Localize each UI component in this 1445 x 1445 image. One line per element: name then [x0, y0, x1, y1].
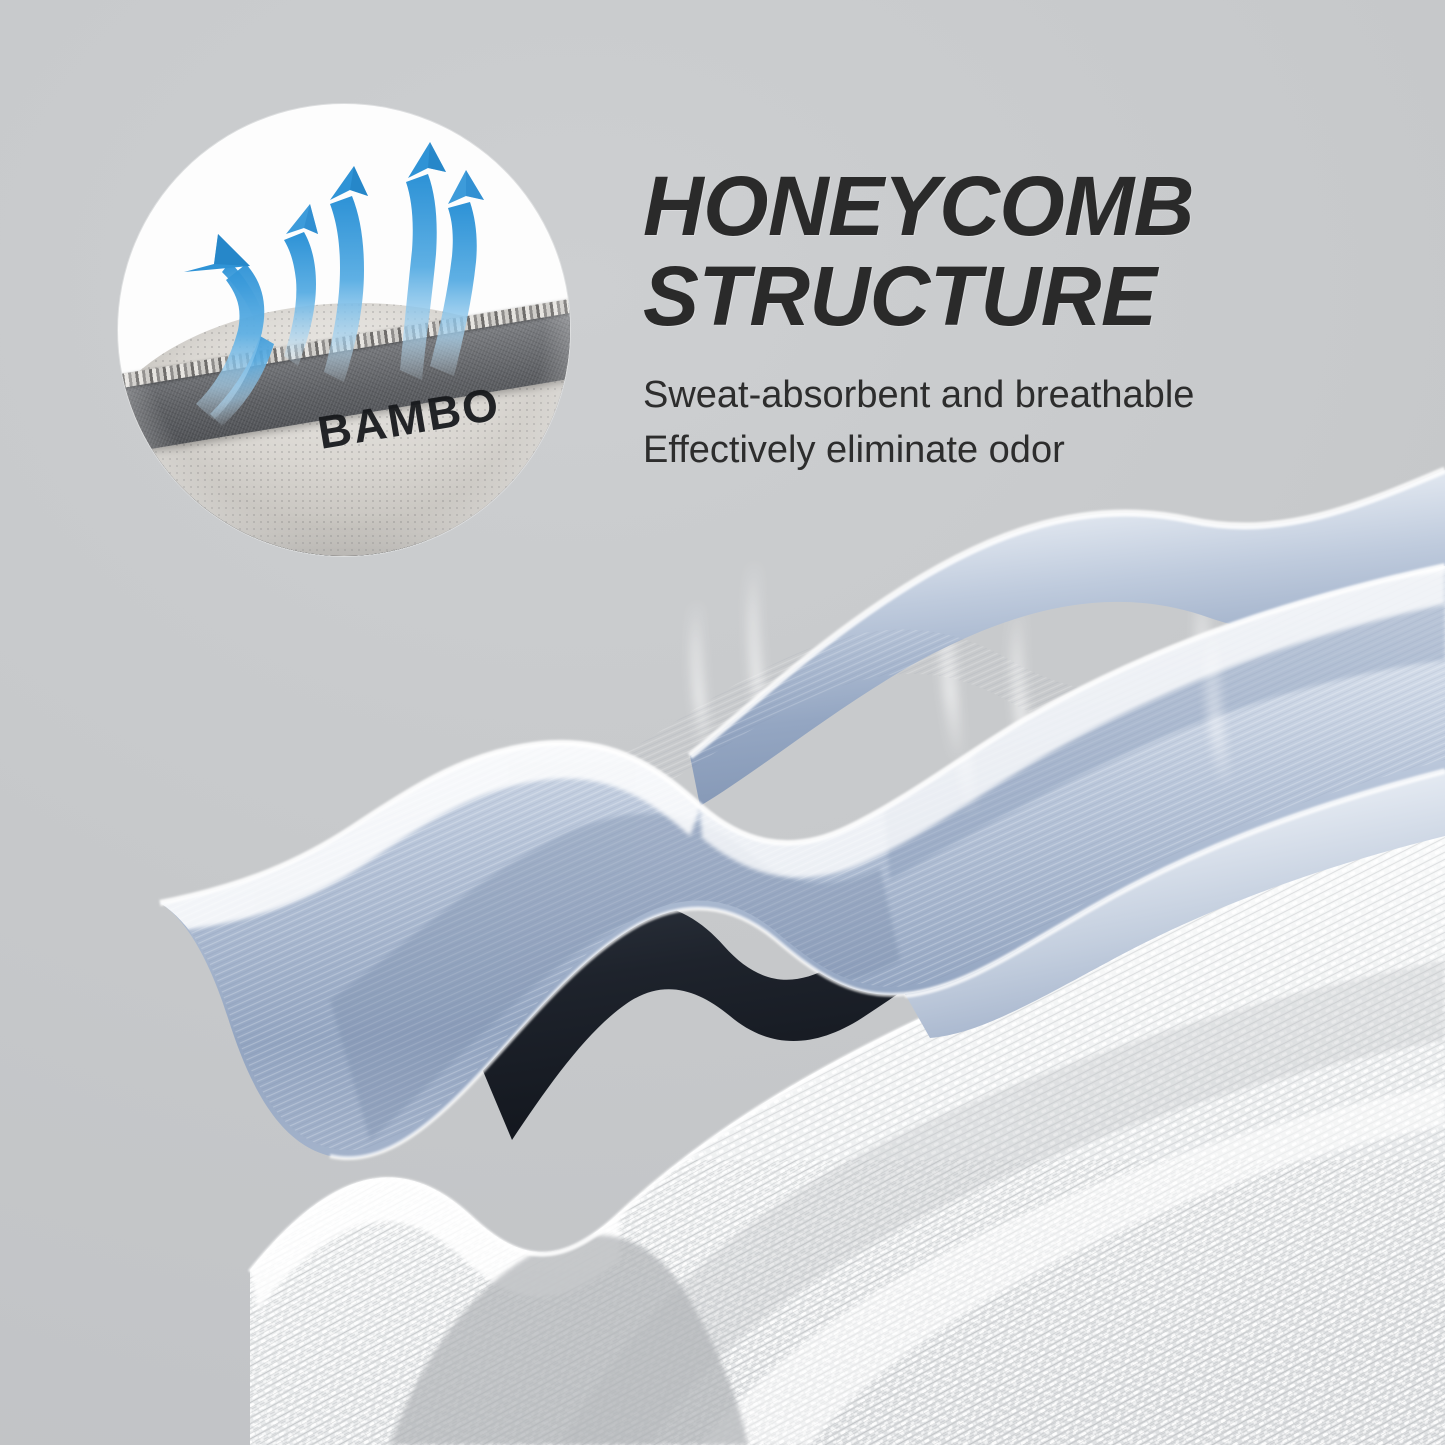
page-title-line-1: HONEYCOMB: [643, 162, 1363, 252]
airflow-arrows-group: [118, 104, 570, 556]
airflow-arrow-5: [430, 170, 484, 376]
airflow-arrow-2: [284, 204, 318, 366]
product-detail-circle-inset: BAMBO: [118, 104, 570, 556]
subtitle-line-2: Effectively eliminate odor: [643, 423, 1363, 478]
subtitle-line-1: Sweat-absorbent and breathable: [643, 368, 1363, 423]
subtitle-block: Sweat-absorbent and breathable Effective…: [643, 368, 1363, 478]
product-feature-poster: BAMBO: [0, 0, 1445, 1445]
page-title-line-2: STRUCTURE: [643, 252, 1363, 342]
headline-block: HONEYCOMB STRUCTURE Sweat-absorbent and …: [643, 162, 1363, 478]
airflow-arrow-1: [184, 234, 291, 426]
airflow-arrow-3: [324, 166, 368, 382]
